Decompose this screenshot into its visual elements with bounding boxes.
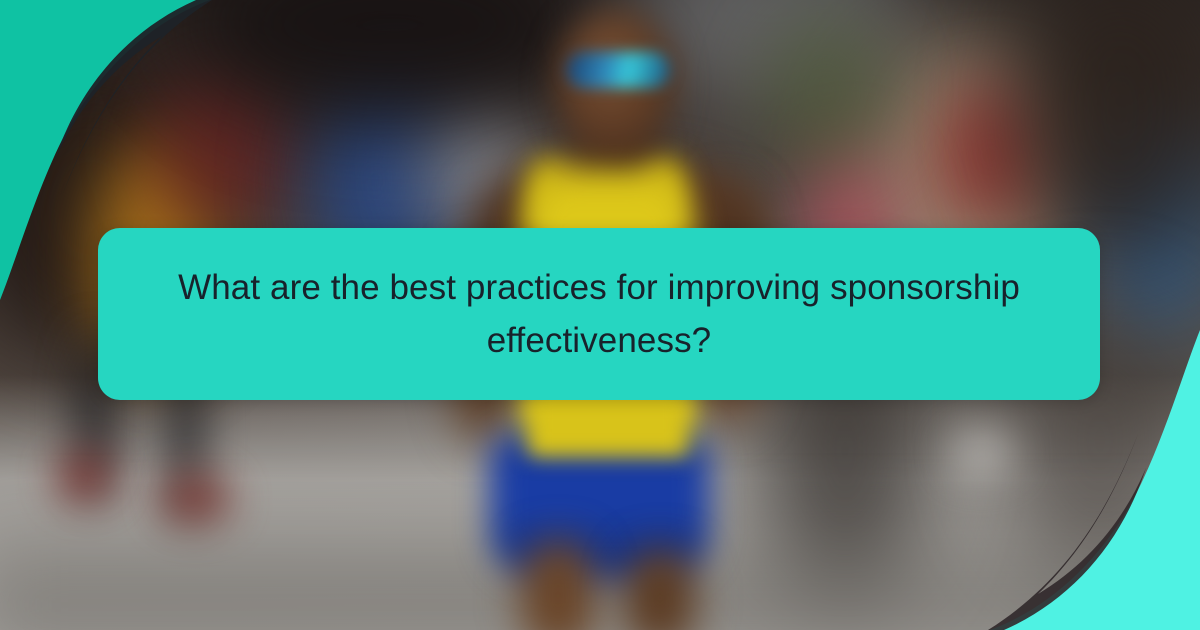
spectator-shoe-right bbox=[952, 436, 1012, 470]
crowd-blob-right-green bbox=[760, 10, 890, 170]
promo-card: What are the best practices for improvin… bbox=[0, 0, 1200, 630]
runner-race-bib bbox=[528, 395, 688, 457]
runner-sunglasses bbox=[566, 52, 670, 88]
question-banner: What are the best practices for improvin… bbox=[98, 228, 1100, 400]
question-text: What are the best practices for improvin… bbox=[158, 261, 1040, 367]
spectator-shoe-left bbox=[58, 455, 112, 501]
runner-leg-left bbox=[520, 540, 596, 630]
spectator-shoe-left-2 bbox=[160, 478, 230, 522]
runner-leg-right bbox=[624, 548, 696, 630]
